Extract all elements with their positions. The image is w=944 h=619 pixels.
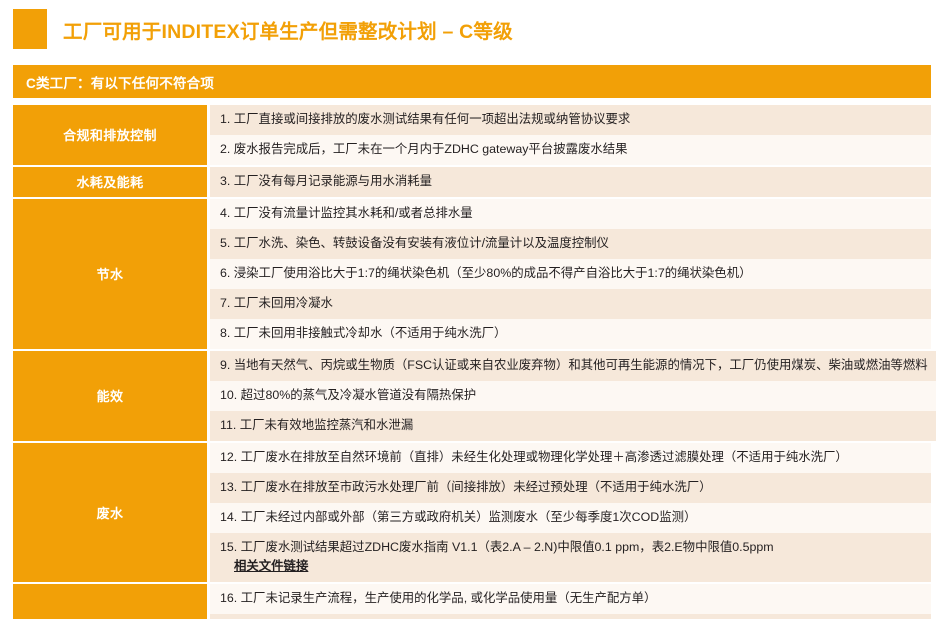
table-row: 10. 超过80%的蒸气及冷凝水管道没有隔热保护 [210, 381, 936, 411]
category-label: 合规和排放控制 [13, 105, 207, 165]
criteria-text: 9. 当地有天然气、丙烷或生物质（FSC认证或来自农业废弃物）和其他可再生能源的… [220, 357, 928, 375]
table-row: 7. 工厂未回用冷凝水 [210, 289, 931, 319]
page-title: 工厂可用于INDITEX订单生产但需整改计划 – C等级 [63, 15, 513, 44]
table-row: 14. 工厂未经过内部或外部（第三方或政府机关）监测废水（至少每季度1次COD监… [210, 503, 931, 533]
category-group: 能效9. 当地有天然气、丙烷或生物质（FSC认证或来自农业废弃物）和其他可再生能… [13, 351, 931, 443]
table-row: 1. 工厂直接或间接排放的废水测试结果有任何一项超出法规或纳管协议要求 [210, 105, 931, 135]
category-group: 合规和排放控制1. 工厂直接或间接排放的废水测试结果有任何一项超出法规或纳管协议… [13, 105, 931, 167]
criteria-text: 16. 工厂未记录生产流程，生产使用的化学品, 或化学品使用量（无生产配方单） [220, 590, 923, 608]
title-accent-block [13, 9, 47, 49]
criteria-text: 5. 工厂水洗、染色、转鼓设备没有安装有液位计/流量计以及温度控制仪 [220, 235, 923, 253]
criteria-text: 13. 工厂废水在排放至市政污水处理厂前（间接排放）未经过预处理（不适用于纯水洗… [220, 479, 923, 497]
criteria-text: 10. 超过80%的蒸气及冷凝水管道没有隔热保护 [220, 387, 928, 405]
table-row: 2. 废水报告完成后，工厂未在一个月内于ZDHC gateway平台披露废水结果 [210, 135, 931, 165]
related-document-link[interactable]: 相关文件链接 [234, 558, 308, 576]
table-row: 3. 工厂没有每月记录能源与用水消耗量 [210, 167, 931, 197]
category-label: 化学品管理 [13, 584, 207, 619]
criteria-text: 6. 浸染工厂使用浴比大于1:7的绳状染色机（至少80%的成品不得产自浴比大于1… [220, 265, 923, 283]
category-group: 化学品管理16. 工厂未记录生产流程，生产使用的化学品, 或化学品使用量（无生产… [13, 584, 931, 619]
criteria-text: 12. 工厂废水在排放至自然环境前（直排）未经生化处理或物理化学处理＋高渗透过滤… [220, 449, 923, 467]
criteria-rows: 3. 工厂没有每月记录能源与用水消耗量 [207, 167, 931, 197]
table-row: 13. 工厂废水在排放至市政污水处理厂前（间接排放）未经过预处理（不适用于纯水洗… [210, 473, 931, 503]
section-header-bar: C类工厂：有以下任何不符合项 [13, 65, 931, 98]
table-row: 15. 工厂废水测试结果超过ZDHC废水指南 V1.1（表2.A – 2.N)中… [210, 533, 931, 582]
criteria-text: 4. 工厂没有流量计监控其水耗和/或者总排水量 [220, 205, 923, 223]
category-label: 节水 [13, 199, 207, 349]
criteria-text: 8. 工厂未回用非接触式冷却水（不适用于纯水洗厂） [220, 325, 923, 343]
criteria-table: 合规和排放控制1. 工厂直接或间接排放的废水测试结果有任何一项超出法规或纳管协议… [13, 105, 931, 619]
category-label: 水耗及能耗 [13, 167, 207, 197]
category-group: 节水4. 工厂没有流量计监控其水耗和/或者总排水量5. 工厂水洗、染色、转鼓设备… [13, 199, 931, 351]
criteria-rows: 9. 当地有天然气、丙烷或生物质（FSC认证或来自农业废弃物）和其他可再生能源的… [207, 351, 936, 441]
criteria-rows: 1. 工厂直接或间接排放的废水测试结果有任何一项超出法规或纳管协议要求2. 废水… [207, 105, 931, 165]
category-label: 废水 [13, 443, 207, 582]
criteria-rows: 16. 工厂未记录生产流程，生产使用的化学品, 或化学品使用量（无生产配方单）1… [207, 584, 931, 619]
table-row: 5. 工厂水洗、染色、转鼓设备没有安装有液位计/流量计以及温度控制仪 [210, 229, 931, 259]
category-group: 水耗及能耗3. 工厂没有每月记录能源与用水消耗量 [13, 167, 931, 199]
page-root: 工厂可用于INDITEX订单生产但需整改计划 – C等级 C类工厂：有以下任何不… [0, 0, 944, 619]
criteria-text: 2. 废水报告完成后，工厂未在一个月内于ZDHC gateway平台披露废水结果 [220, 141, 923, 159]
table-row: 12. 工厂废水在排放至自然环境前（直排）未经生化处理或物理化学处理＋高渗透过滤… [210, 443, 931, 473]
table-row: 6. 浸染工厂使用浴比大于1:7的绳状染色机（至少80%的成品不得产自浴比大于1… [210, 259, 931, 289]
table-row: 4. 工厂没有流量计监控其水耗和/或者总排水量 [210, 199, 931, 229]
category-label: 能效 [13, 351, 207, 441]
table-row: 11. 工厂未有效地监控蒸汽和水泄漏 [210, 411, 936, 441]
criteria-text: 1. 工厂直接或间接排放的废水测试结果有任何一项超出法规或纳管协议要求 [220, 111, 923, 129]
table-row: 8. 工厂未回用非接触式冷却水（不适用于纯水洗厂） [210, 319, 931, 349]
section-header-label: C类工厂：有以下任何不符合项 [13, 72, 214, 92]
criteria-rows: 12. 工厂废水在排放至自然环境前（直排）未经生化处理或物理化学处理＋高渗透过滤… [207, 443, 931, 582]
category-group: 废水12. 工厂废水在排放至自然环境前（直排）未经生化处理或物理化学处理＋高渗透… [13, 443, 931, 584]
criteria-rows: 4. 工厂没有流量计监控其水耗和/或者总排水量5. 工厂水洗、染色、转鼓设备没有… [207, 199, 931, 349]
table-row: 16. 工厂未记录生产流程，生产使用的化学品, 或化学品使用量（无生产配方单） [210, 584, 931, 614]
table-row: 9. 当地有天然气、丙烷或生物质（FSC认证或来自农业废弃物）和其他可再生能源的… [210, 351, 936, 381]
page-title-row: 工厂可用于INDITEX订单生产但需整改计划 – C等级 [13, 8, 931, 50]
criteria-text: 3. 工厂没有每月记录能源与用水消耗量 [220, 173, 923, 191]
criteria-text: 11. 工厂未有效地监控蒸汽和水泄漏 [220, 417, 928, 435]
criteria-text: 7. 工厂未回用冷凝水 [220, 295, 923, 313]
criteria-text: 15. 工厂废水测试结果超过ZDHC废水指南 V1.1（表2.A – 2.N)中… [220, 539, 923, 557]
criteria-text: 14. 工厂未经过内部或外部（第三方或政府机关）监测废水（至少每季度1次COD监… [220, 509, 923, 527]
table-row: 17. 工厂化学品管控较薄弱，低于60%的风险化学品按INDITEX化学品管控要… [210, 614, 931, 619]
